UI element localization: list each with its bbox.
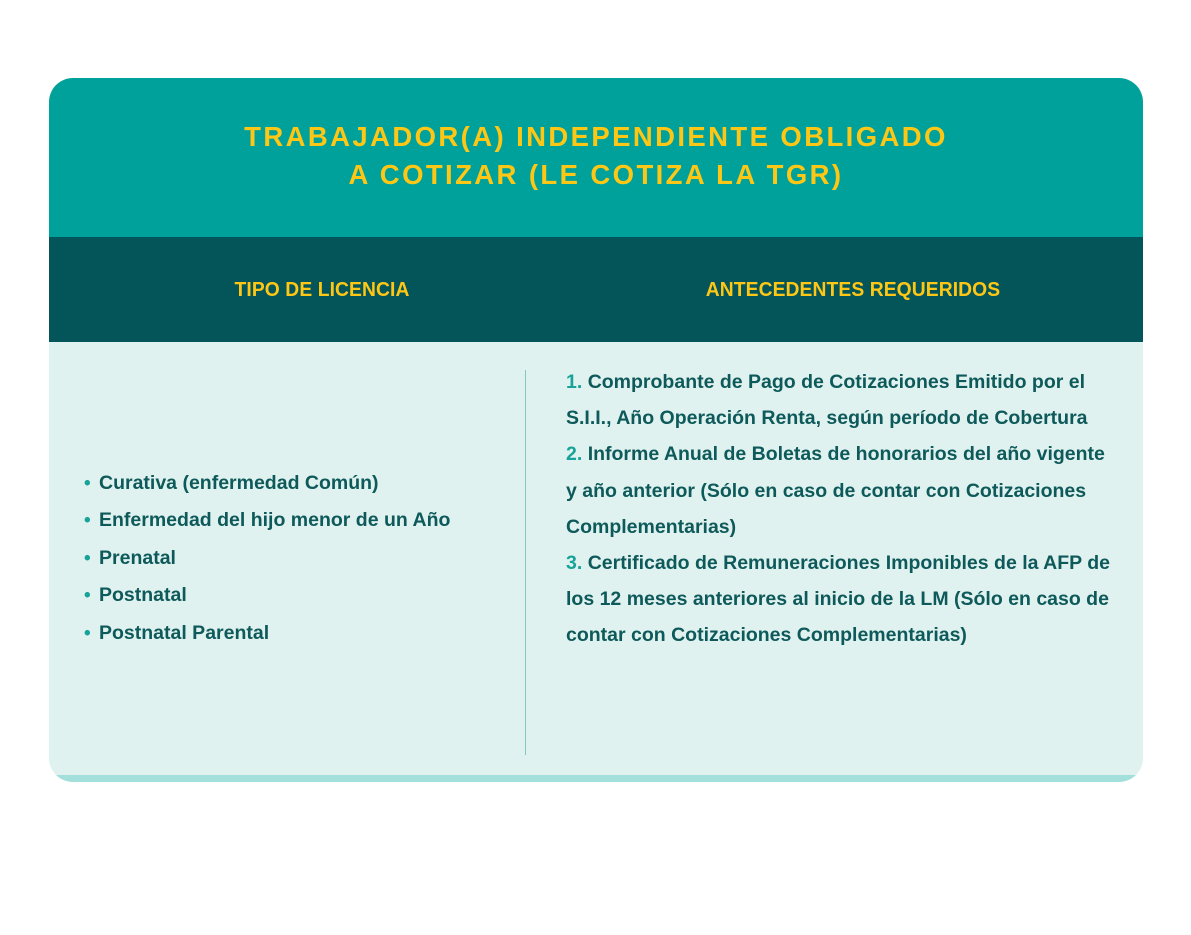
list-item-number: 1. bbox=[566, 371, 582, 393]
list-item-label: Comprobante de Pago de Cotizaciones Emit… bbox=[566, 371, 1088, 429]
bullet-icon: • bbox=[84, 503, 99, 540]
page-canvas: TRABAJADOR(A) INDEPENDIENTE OBLIGADO A C… bbox=[0, 0, 1191, 935]
column-header-row: TIPO DE LICENCIA ANTECEDENTES REQUERIDOS bbox=[49, 237, 1143, 342]
column-header-antecedentes-requeridos: ANTECEDENTES REQUERIDOS bbox=[580, 237, 1125, 342]
list-item-label: Certificado de Remuneraciones Imponibles… bbox=[566, 552, 1110, 646]
requirements-column: 1. Comprobante de Pago de Cotizaciones E… bbox=[566, 342, 1111, 775]
card-bottom-accent-bar bbox=[49, 775, 1143, 782]
list-item: 2. Informe Anual de Boletas de honorario… bbox=[566, 436, 1111, 545]
list-item-label: Prenatal bbox=[99, 540, 176, 577]
license-types-column: • Curativa (enfermedad Común) • Enfermed… bbox=[84, 342, 514, 775]
card-title: TRABAJADOR(A) INDEPENDIENTE OBLIGADO A C… bbox=[244, 118, 948, 194]
list-item: • Enfermedad del hijo menor de un Año bbox=[84, 502, 514, 540]
list-item: • Postnatal bbox=[84, 577, 514, 615]
bullet-icon: • bbox=[84, 466, 99, 503]
list-item-label: Curativa (enfermedad Común) bbox=[99, 465, 379, 502]
bullet-icon: • bbox=[84, 578, 99, 615]
list-item-number: 2. bbox=[566, 443, 582, 465]
column-divider bbox=[525, 370, 526, 755]
requirements-list: 1. Comprobante de Pago de Cotizaciones E… bbox=[566, 364, 1111, 654]
license-types-list: • Curativa (enfermedad Común) • Enfermed… bbox=[84, 465, 514, 653]
list-item: • Postnatal Parental bbox=[84, 615, 514, 653]
column-header-tipo-de-licencia: TIPO DE LICENCIA bbox=[95, 237, 548, 342]
card-title-band: TRABAJADOR(A) INDEPENDIENTE OBLIGADO A C… bbox=[49, 78, 1143, 237]
list-item-label: Postnatal Parental bbox=[99, 615, 269, 652]
list-item-label: Enfermedad del hijo menor de un Año bbox=[99, 502, 450, 539]
bullet-icon: • bbox=[84, 616, 99, 653]
list-item-number: 3. bbox=[566, 552, 582, 574]
list-item: • Curativa (enfermedad Común) bbox=[84, 465, 514, 503]
list-item-label: Postnatal bbox=[99, 577, 187, 614]
list-item: 3. Certificado de Remuneraciones Imponib… bbox=[566, 545, 1111, 654]
list-item: • Prenatal bbox=[84, 540, 514, 578]
list-item: 1. Comprobante de Pago de Cotizaciones E… bbox=[566, 364, 1111, 436]
list-item-label: Informe Anual de Boletas de honorarios d… bbox=[566, 443, 1105, 537]
card-body: • Curativa (enfermedad Común) • Enfermed… bbox=[49, 342, 1143, 775]
info-card: TRABAJADOR(A) INDEPENDIENTE OBLIGADO A C… bbox=[49, 78, 1143, 782]
bullet-icon: • bbox=[84, 541, 99, 578]
